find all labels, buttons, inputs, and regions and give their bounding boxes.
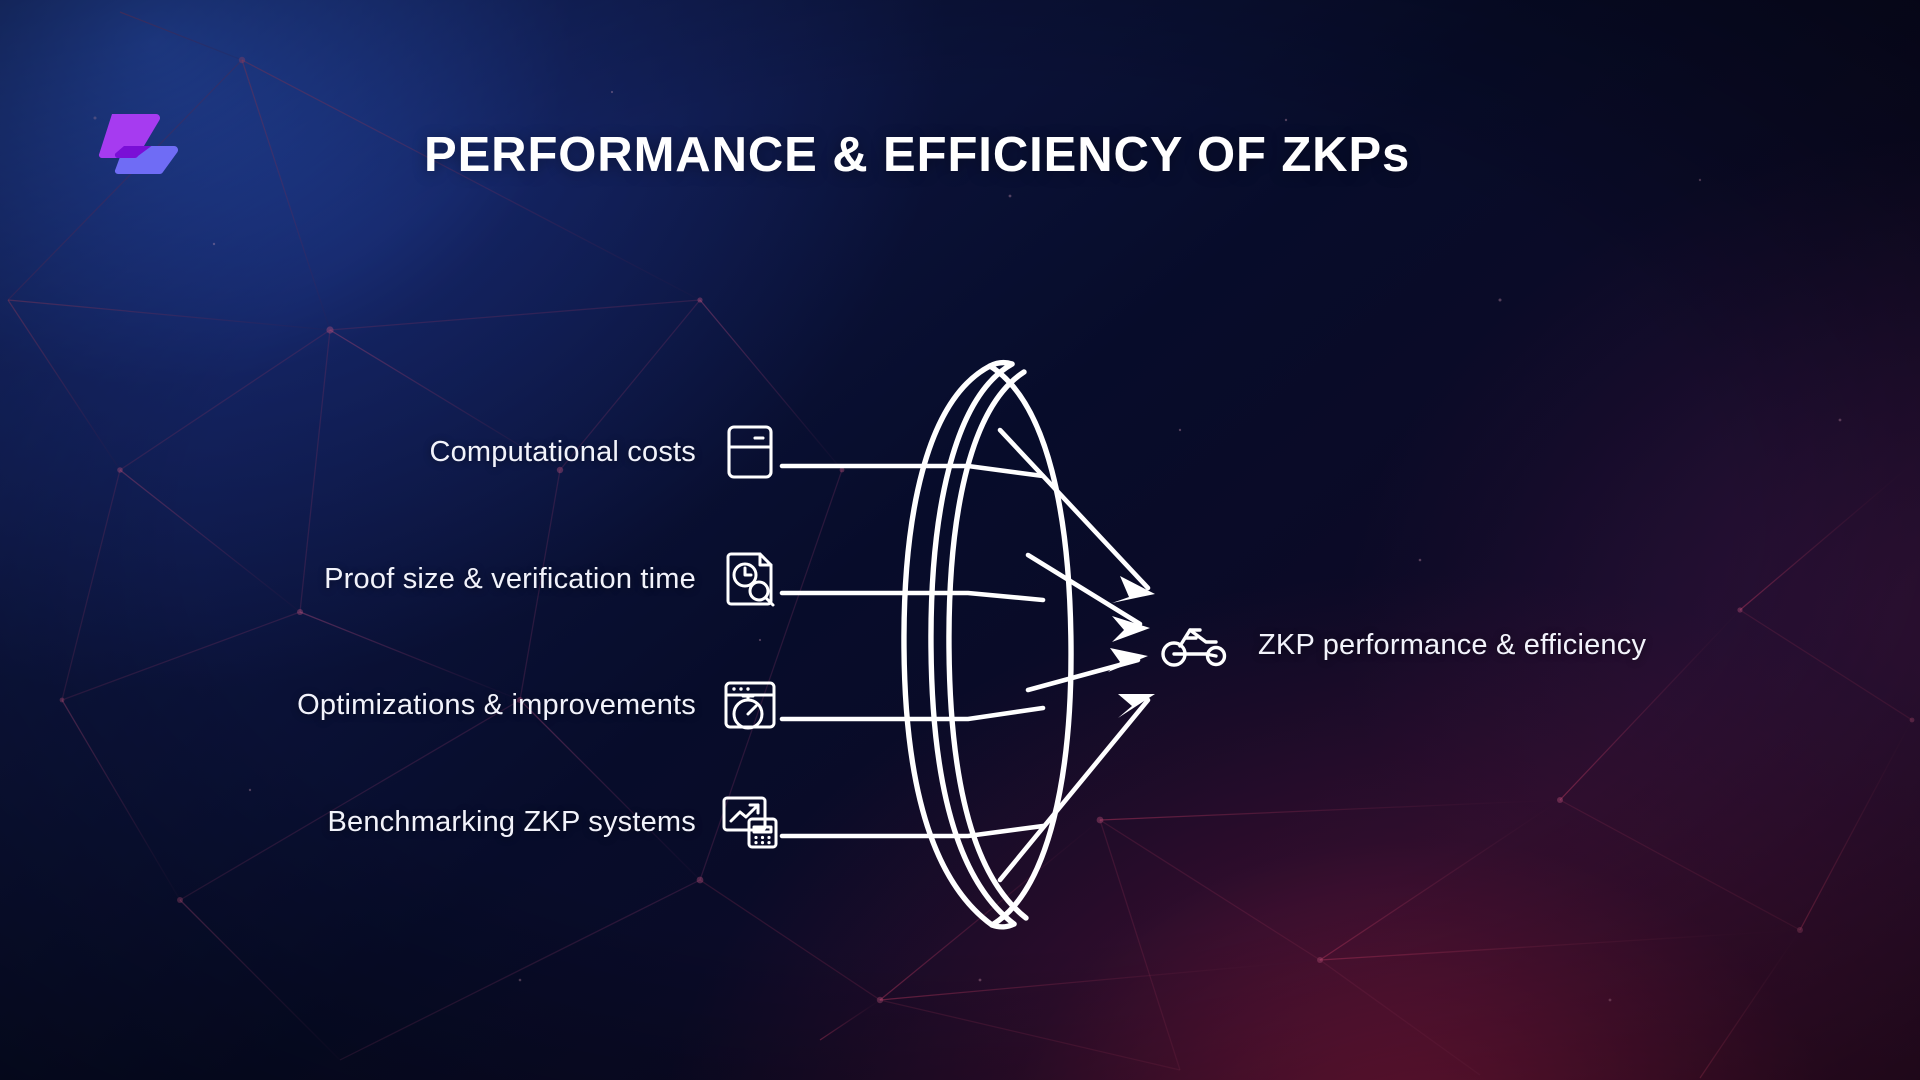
input-label-4: Benchmarking ZKP systems: [327, 806, 696, 839]
arrowhead-3: [1108, 648, 1148, 672]
ray-out-4: [1000, 700, 1148, 880]
ray-in-2: [782, 593, 1043, 600]
ray-out-1: [1000, 430, 1148, 588]
ray-arrowheads: [1108, 576, 1155, 718]
ray-out-2: [1028, 555, 1140, 624]
input-row-4: Benchmarking ZKP systems: [242, 790, 782, 854]
input-row-2: Proof size & verification time: [240, 547, 782, 611]
lens-rim-top: [990, 363, 1012, 366]
input-label-1: Computational costs: [429, 436, 696, 469]
browser-stopwatch-icon: [718, 673, 782, 737]
ray-in-3: [782, 708, 1043, 719]
input-label-3: Optimizations & improvements: [297, 689, 696, 722]
slide-root: PERFORMANCE & EFFICIENCY OF ZKPs: [0, 0, 1920, 1080]
lens-rim-bottom: [992, 924, 1014, 927]
output-row: ZKP performance & efficiency: [1160, 614, 1646, 676]
chart-calculator-icon: [718, 790, 782, 854]
motorcycle-icon: [1160, 618, 1230, 672]
lens-diagram: [0, 0, 1920, 1080]
input-label-2: Proof size & verification time: [324, 563, 696, 596]
ray-in-1: [782, 466, 1043, 476]
ray-in-4: [782, 826, 1043, 836]
server-rack-icon: [718, 420, 782, 484]
input-row-3: Optimizations & improvements: [212, 673, 782, 737]
input-row-1: Computational costs: [320, 420, 782, 484]
document-clock-search-icon: [718, 547, 782, 611]
output-label: ZKP performance & efficiency: [1258, 629, 1646, 662]
